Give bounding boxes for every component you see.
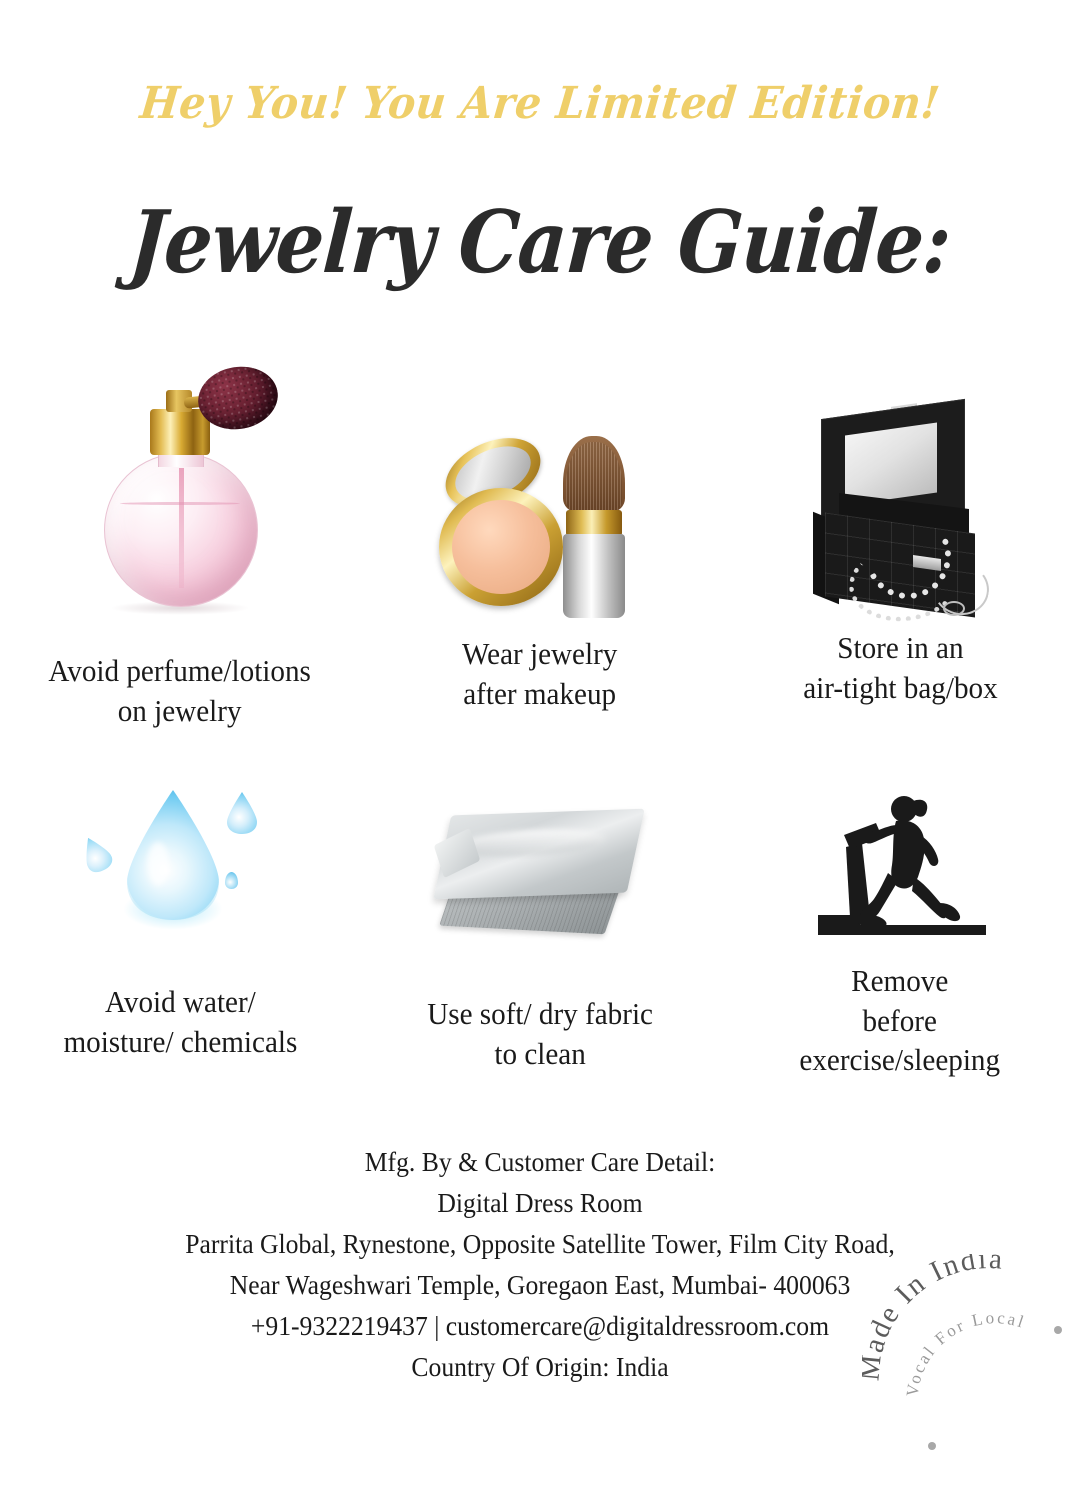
- footer-line: Digital Dress Room: [27, 1183, 1053, 1224]
- care-tips-row-2: Avoid water/ moisture/ chemicals Use sof…: [0, 780, 1080, 1080]
- perfume-bottle-icon: [80, 380, 280, 615]
- tip-caption: Store in an air-tight bag/box: [803, 620, 997, 707]
- tip-item-use-soft-cloth: Use soft/ dry fabric to clean: [360, 780, 720, 1080]
- tip-art: [0, 780, 360, 950]
- treadmill-runner-icon: [800, 785, 1000, 945]
- tagline: Hey You! You Are Limited Edition!: [35, 78, 1045, 129]
- tip-caption: Avoid water/ moisture/ chemicals: [63, 950, 297, 1061]
- tip-art: [0, 380, 360, 615]
- tip-caption: Use soft/ dry fabric to clean: [427, 950, 653, 1073]
- tip-item-store-airtight: Store in an air-tight bag/box: [720, 380, 1080, 725]
- footer-line: +91-9322219437 | customercare@digitaldre…: [27, 1306, 1053, 1347]
- tip-caption: Remove before exercise/sleeping: [800, 945, 1001, 1080]
- footer-line: Mfg. By & Customer Care Detail:: [27, 1142, 1053, 1183]
- tip-caption: Wear jewelry after makeup: [462, 620, 617, 713]
- care-tips-grid: Avoid perfume/lotions on jewelry Wear je…: [0, 380, 1080, 1080]
- tip-art: [720, 780, 1080, 945]
- footer-line: Parrita Global, Rynestone, Opposite Sate…: [27, 1224, 1053, 1265]
- tip-item-wear-after-makeup: Wear jewelry after makeup: [360, 380, 720, 725]
- jewelry-box-icon: [793, 405, 1008, 620]
- jewelry-care-guide-page: Hey You! You Are Limited Edition! Jewelr…: [0, 0, 1080, 1440]
- footer-line: Near Wageshwari Temple, Goregaon East, M…: [27, 1265, 1053, 1306]
- tip-art: [360, 780, 720, 950]
- footer-line: Country Of Origin: India: [27, 1347, 1053, 1388]
- tip-item-avoid-water: Avoid water/ moisture/ chemicals: [0, 780, 360, 1080]
- tip-item-remove-before-exercise: Remove before exercise/sleeping: [720, 780, 1080, 1080]
- polishing-cloth-icon: [433, 800, 648, 950]
- page-title: Jewelry Care Guide:: [61, 192, 1018, 293]
- tip-art: [360, 380, 720, 620]
- tip-item-avoid-perfume: Avoid perfume/lotions on jewelry: [0, 380, 360, 725]
- tip-art: [720, 380, 1080, 620]
- care-tips-row-1: Avoid perfume/lotions on jewelry Wear je…: [0, 380, 1080, 725]
- makeup-compact-brush-icon: [435, 430, 645, 620]
- water-drop-icon: [75, 780, 285, 950]
- tip-caption: Avoid perfume/lotions on jewelry: [49, 615, 311, 730]
- footer-contact-block: Mfg. By & Customer Care Detail: Digital …: [0, 1142, 1080, 1388]
